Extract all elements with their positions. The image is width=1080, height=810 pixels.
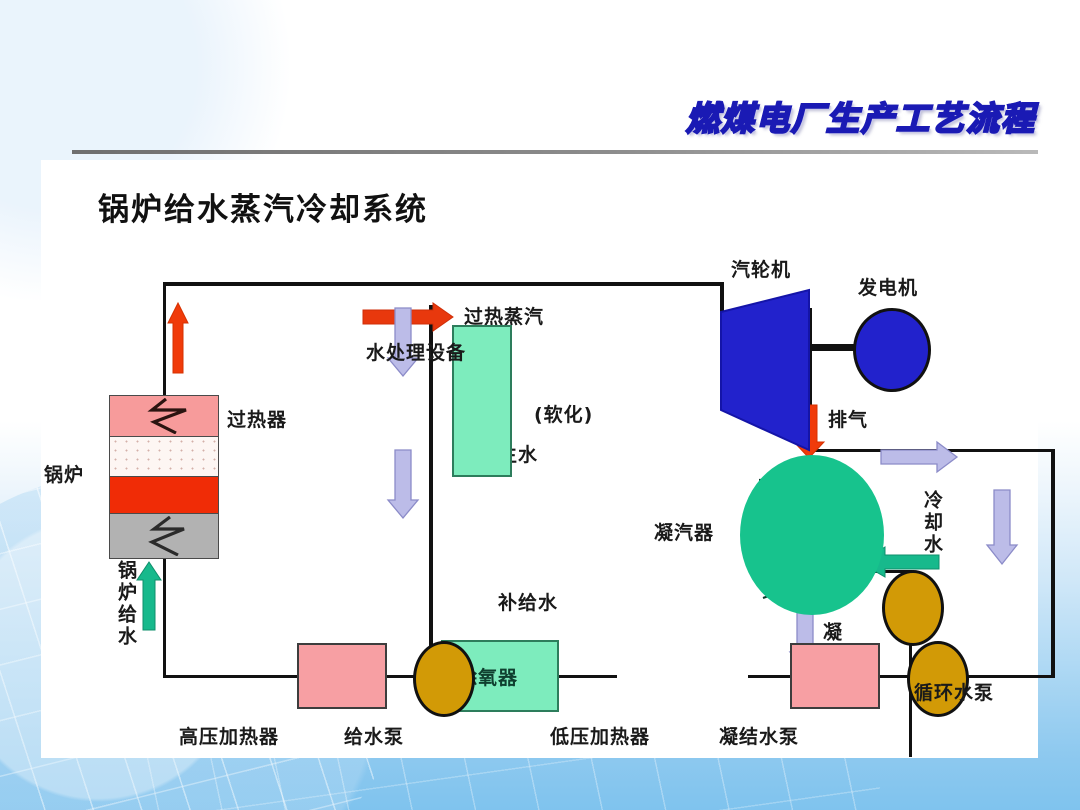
label-boiler-feedwater: 锅炉给水: [113, 560, 140, 720]
label-cond-pump: 凝结水泵: [719, 722, 799, 749]
label-exhaust-steam: 排气: [828, 405, 868, 432]
pipe-steam-header: [163, 282, 723, 286]
turbine-body-icon: [721, 290, 809, 450]
slide-title: 燃煤电厂生产工艺流程: [686, 92, 1036, 140]
arrow-cooling-loop-down-icon: [987, 490, 1017, 564]
pipe-boiler-riser: [163, 282, 166, 397]
boiler-band-furnace: [110, 477, 218, 514]
label-condenser: 凝汽器: [654, 518, 714, 545]
superheater-coil-icon: [132, 398, 196, 434]
economizer-coil-icon: [132, 516, 196, 556]
diagram-canvas: 锅炉给水蒸汽冷却系统: [41, 160, 1038, 758]
arrow-cooling-out-icon: [881, 442, 957, 472]
label-boiler: 锅炉: [44, 460, 84, 487]
label-water-treatment: 水处理设备: [366, 342, 466, 364]
label-water-treatment-note: (软化): [534, 400, 593, 427]
title-divider: [72, 150, 1038, 154]
pipe-cooling-out: [812, 449, 1055, 452]
slide-root: 燃煤电厂生产工艺流程 锅炉给水蒸汽冷却系统: [0, 0, 1080, 810]
condenser-unit[interactable]: [740, 455, 884, 615]
hp-heater-unit[interactable]: [297, 643, 387, 709]
boiler-band-economizer: [110, 514, 218, 558]
boiler-band-drum: [110, 437, 218, 477]
label-lp-heater: 低压加热器: [550, 722, 650, 749]
arrow-steam-up-icon: [168, 303, 188, 373]
pipe-cooling-return-right: [1051, 449, 1055, 677]
label-superheater: 过热器: [227, 405, 287, 432]
pipe-deaerator-to-lp: [748, 675, 790, 678]
circ-pump-unit[interactable]: [882, 570, 944, 646]
label-hp-heater: 高压加热器: [179, 722, 279, 749]
label-feed-pump: 给水泵: [344, 722, 404, 749]
label-water-treatment-line1: 水处理设备: [366, 342, 454, 366]
pipe-turbine-inlet: [720, 282, 724, 312]
arrow-boiler-feedwater-icon: [137, 562, 161, 630]
boiler-band-superheater: [110, 396, 218, 437]
arrow-makeup-water-icon: [388, 450, 418, 518]
pipe-turbine-exhaust-stem: [807, 308, 812, 450]
pipe-boiler-downcomer: [163, 557, 166, 677]
label-circ-pump: 循环水泵: [914, 678, 994, 705]
label-generator: 发电机: [858, 273, 918, 300]
generator-unit[interactable]: [853, 308, 931, 392]
label-makeup-water: 补给水: [498, 588, 558, 615]
pipe-feed-to-hp: [163, 675, 297, 678]
lp-heater-unit[interactable]: [790, 643, 880, 709]
boiler-unit[interactable]: [109, 395, 219, 559]
label-turbine: 汽轮机: [731, 255, 791, 282]
feed-pump-unit[interactable]: [413, 641, 475, 717]
shaft-turbine-generator: [807, 344, 859, 351]
diagram-subtitle: 锅炉给水蒸汽冷却系统: [98, 184, 428, 229]
arrow-superheated-steam-icon: [363, 303, 453, 331]
